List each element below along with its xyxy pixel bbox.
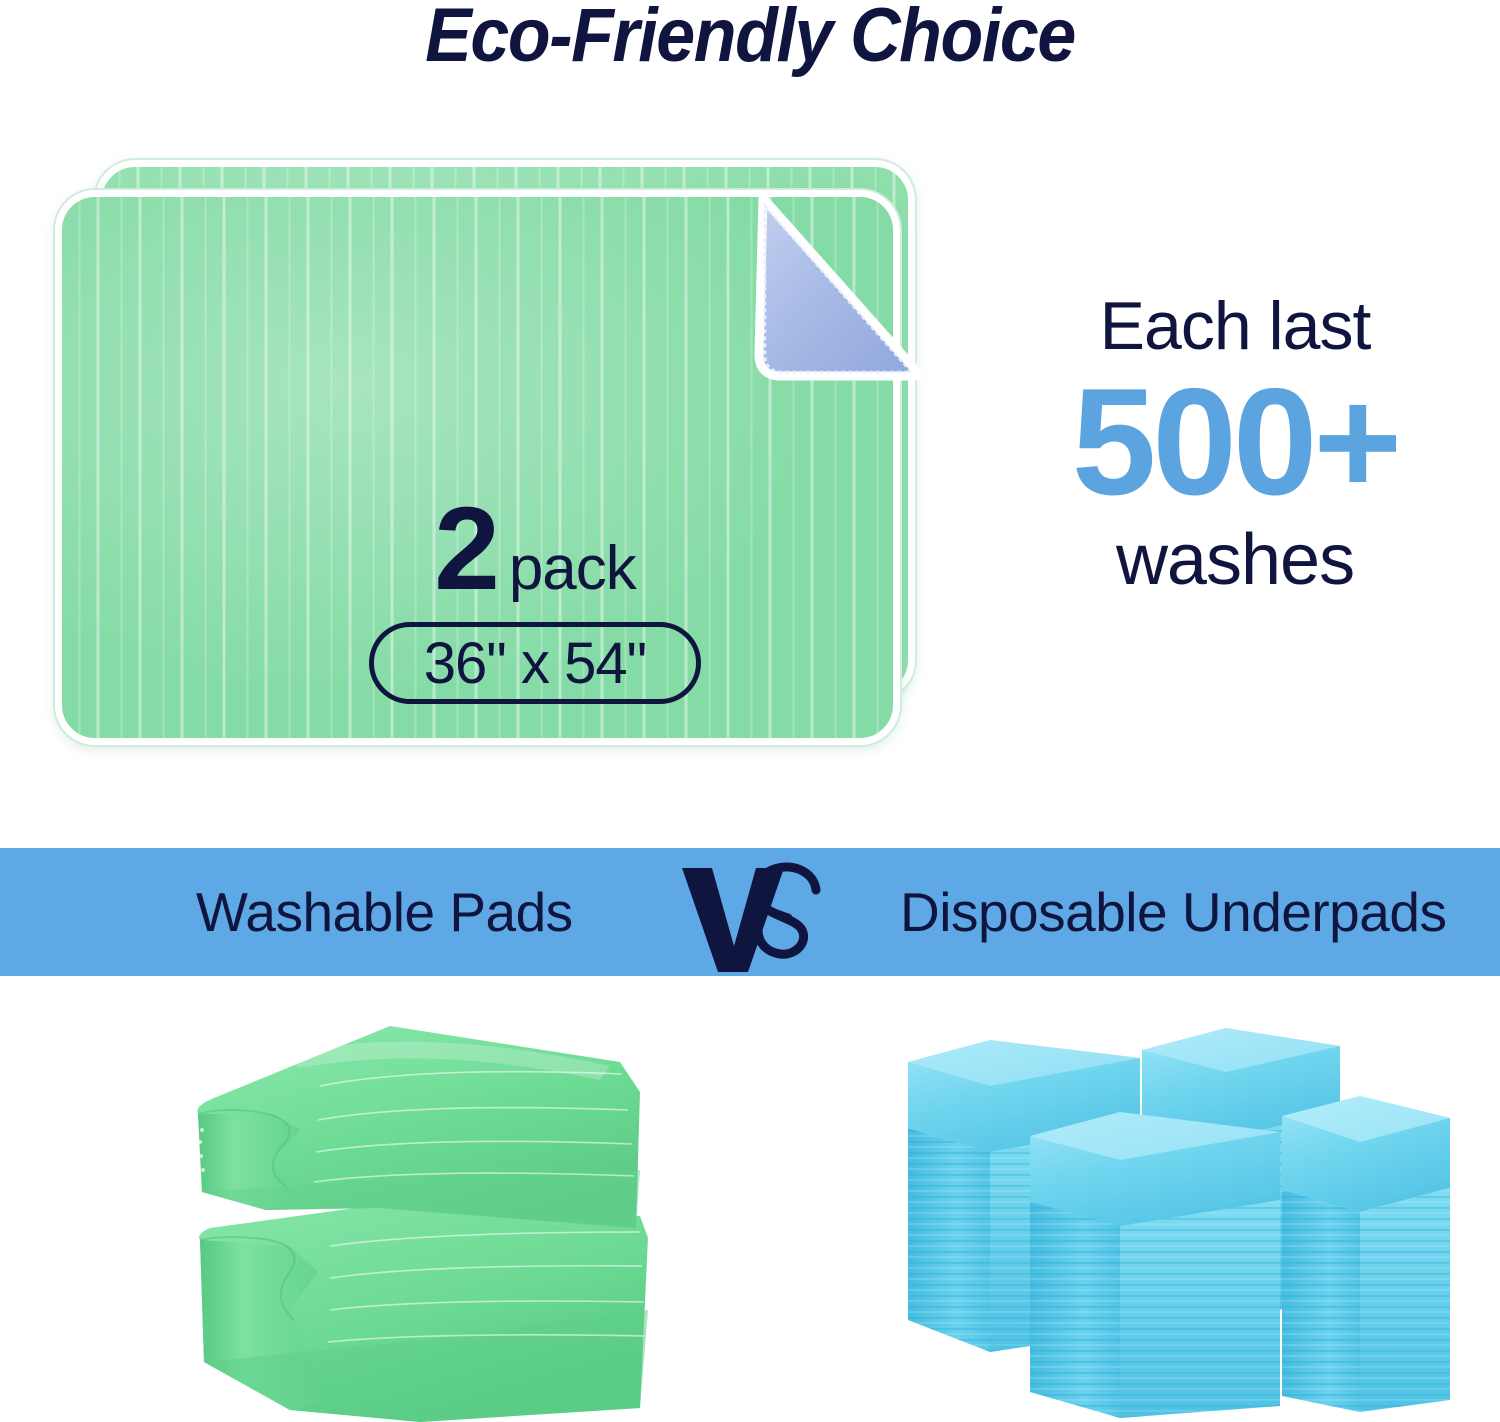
banner-label-left: Washable Pads [196,880,573,944]
underpad-stack-front-left [1030,1112,1280,1418]
folded-washable-pads-image [170,1010,670,1422]
pack-word: pack [509,538,636,600]
disposable-underpad-stacks-image [890,1000,1460,1422]
banner-label-right: Disposable Underpads [900,880,1446,944]
claim-count: 500+ [1005,366,1465,518]
claim-bottom-text: washes [1005,524,1465,596]
folded-pad-lower [199,1206,648,1422]
claim-top-text: Each last [1005,292,1465,360]
pack-count: 2 [434,490,497,608]
washes-claim: Each last 500+ washes [1005,292,1465,596]
product-infographic: Eco-Friendly Choice [0,0,1500,1422]
underpad-stack-front-right [1282,1096,1450,1412]
pack-badge: 2 pack 36" x 54" [325,490,745,704]
folded-pad-upper [197,1026,640,1228]
hero-pad-stack: 2 pack 36" x 54" [55,160,935,760]
versus-icon [676,860,836,978]
page-title: Eco-Friendly Choice [60,0,1440,79]
size-badge: 36" x 54" [369,622,701,704]
